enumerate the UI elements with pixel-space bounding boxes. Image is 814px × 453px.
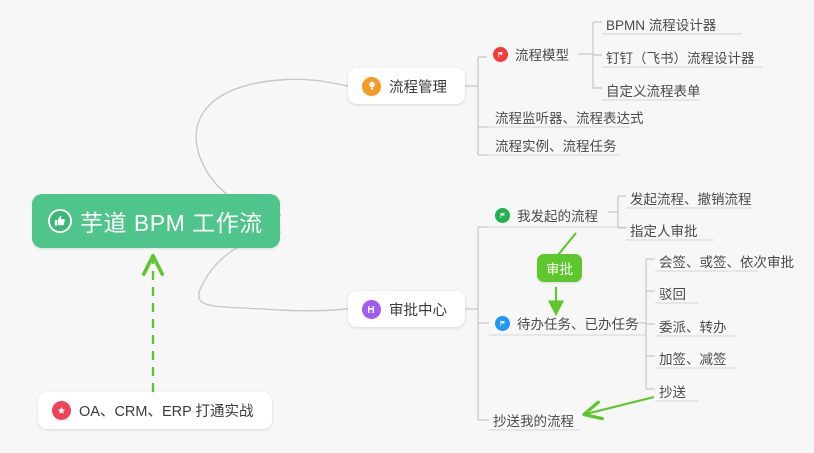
node-label-bpmn-designer: BPMN 流程设计器 <box>606 14 716 34</box>
node-label-assign-approver: 指定人审批 <box>630 220 698 240</box>
node-label-process-listener: 流程监听器、流程表达式 <box>495 107 644 127</box>
node-cc-to-me[interactable]: 抄送我的流程 <box>489 405 580 435</box>
node-todo-done-tasks[interactable]: 待办任务、已办任务 <box>491 308 645 338</box>
node-label-reject: 驳回 <box>659 283 686 303</box>
flag-icon <box>495 316 510 331</box>
flag-icon <box>493 47 508 62</box>
node-dingtalk-designer[interactable]: 钉钉（飞书）流程设计器 <box>602 42 761 72</box>
mindmap-canvas: 芋道 BPM 工作流 流程管理 流程模型 BPMN 流程设计器 钉钉（飞书）流程… <box>0 0 814 453</box>
node-label-todo-done-tasks: 待办任务、已办任务 <box>517 313 639 333</box>
annotation-arrow-approval-top <box>558 233 576 255</box>
node-label-delegate-transfer: 委派、转办 <box>659 316 727 336</box>
thumbs-up-icon <box>48 209 72 233</box>
node-add-remove-sign[interactable]: 加签、减签 <box>655 343 733 373</box>
root-label: 芋道 BPM 工作流 <box>80 204 263 238</box>
flag-icon <box>495 208 510 223</box>
node-delegate-transfer[interactable]: 委派、转办 <box>655 311 733 341</box>
node-cc[interactable]: 抄送 <box>655 376 692 406</box>
branch-label-process-management: 流程管理 <box>389 76 447 97</box>
node-custom-form[interactable]: 自定义流程表单 <box>602 75 707 105</box>
branch-node-process-management[interactable]: 流程管理 <box>348 68 465 104</box>
annotation-arrow-cc <box>586 397 654 414</box>
approval-badge-label: 审批 <box>546 258 573 278</box>
star-icon <box>52 401 71 420</box>
node-bpmn-designer[interactable]: BPMN 流程设计器 <box>602 9 722 39</box>
node-label-process-instance: 流程实例、流程任务 <box>495 135 617 155</box>
node-label-add-remove-sign: 加签、减签 <box>659 348 727 368</box>
document-icon <box>362 300 381 319</box>
node-label-cc: 抄送 <box>659 381 686 401</box>
node-label-countersign: 会签、或签、依次审批 <box>659 251 794 271</box>
node-start-cancel-process[interactable]: 发起流程、撤销流程 <box>626 183 758 213</box>
node-process-listener[interactable]: 流程监听器、流程表达式 <box>491 102 650 132</box>
node-reject[interactable]: 驳回 <box>655 278 692 308</box>
node-my-initiated[interactable]: 我发起的流程 <box>491 200 604 230</box>
node-label-start-cancel-process: 发起流程、撤销流程 <box>630 188 752 208</box>
node-process-model[interactable]: 流程模型 <box>489 39 575 69</box>
node-label-process-model: 流程模型 <box>515 44 569 64</box>
node-process-instance[interactable]: 流程实例、流程任务 <box>491 130 623 160</box>
node-countersign[interactable]: 会签、或签、依次审批 <box>655 246 800 276</box>
branch-node-approval-center[interactable]: 审批中心 <box>348 291 465 327</box>
node-label-cc-to-me: 抄送我的流程 <box>493 410 574 430</box>
footer-node-label: OA、CRM、ERP 打通实战 <box>79 400 254 421</box>
lightbulb-icon <box>362 77 381 96</box>
node-label-dingtalk-designer: 钉钉（飞书）流程设计器 <box>606 47 755 67</box>
branch-label-approval-center: 审批中心 <box>389 299 447 320</box>
footer-node-integration[interactable]: OA、CRM、ERP 打通实战 <box>38 392 272 429</box>
node-label-my-initiated: 我发起的流程 <box>517 205 598 225</box>
node-label-custom-form: 自定义流程表单 <box>606 80 701 100</box>
node-assign-approver[interactable]: 指定人审批 <box>626 215 704 245</box>
root-node[interactable]: 芋道 BPM 工作流 <box>32 194 280 248</box>
approval-badge[interactable]: 审批 <box>537 254 582 282</box>
